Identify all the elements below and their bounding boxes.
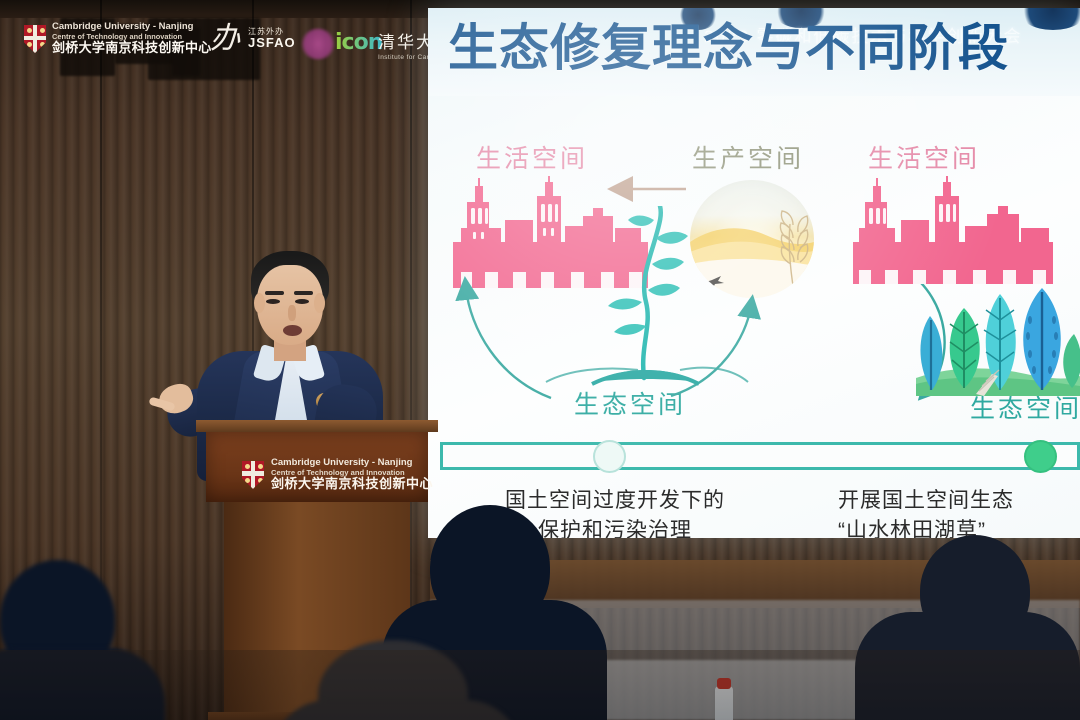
- logo-jsfao: 办 江苏外办 JSFAO: [210, 24, 296, 54]
- podium-cn-name: 剑桥大学南京科技创新中心: [271, 477, 433, 492]
- jsfao-calligraphy-icon: 办: [210, 24, 240, 54]
- caption-right-line2: “山水林田湖草”: [838, 516, 1080, 538]
- label-living-space-right: 生活空间: [868, 139, 980, 175]
- cambridge-shield-icon: [242, 461, 264, 489]
- room-floor-shadow: [0, 650, 1080, 720]
- city-skyline-right-icon: [853, 176, 1053, 284]
- arrow-eco-to-living-left: [466, 288, 551, 398]
- speaker-mouth: [283, 325, 302, 336]
- projection-screen: 2023 零碳和低碳技术与科学创新大会 生态修复理念与不同阶段 生活空间 生产空…: [428, 8, 1080, 538]
- jsfao-en-label: JSFAO: [248, 36, 296, 51]
- speaker-ear-left: [254, 293, 265, 313]
- timeline-track[interactable]: [440, 442, 1080, 470]
- speaker-brow-right: [294, 291, 313, 295]
- sponsor-logo-banner: Cambridge University - Nanjing Centre of…: [0, 16, 430, 72]
- label-living-space-left: 生活空间: [476, 139, 588, 175]
- icon-wordmark: icon: [335, 30, 382, 55]
- logo-icon-carbon: icon: [335, 30, 382, 55]
- speaker-eye-left: [266, 299, 280, 304]
- podium-top: [196, 420, 438, 432]
- cambridge-shield-icon: [24, 25, 46, 53]
- leaf-forest-icon: [916, 274, 1080, 396]
- timeline-marker-hollow[interactable]: [593, 440, 626, 473]
- caption-right-line1: 开展国土空间生态: [838, 486, 1080, 516]
- wheat-field-illustration: [690, 180, 814, 298]
- podium-logo: Cambridge University - Nanjing Centre of…: [242, 458, 433, 492]
- label-production-space: 生产空间: [692, 139, 804, 175]
- slide-title: 生态修复理念与不同阶段: [448, 22, 1068, 75]
- logo-cn-name: 剑桥大学南京科技创新中心: [52, 41, 212, 56]
- magenta-glow-blob: [300, 28, 336, 60]
- conference-photo: Cambridge University - Nanjing Centre of…: [0, 0, 1080, 720]
- caption-right: 开展国土空间生态 “山水林田湖草”: [838, 486, 1080, 538]
- speaker-eye-right: [295, 299, 309, 304]
- speaker-nose: [288, 305, 296, 321]
- speaker-brow-left: [265, 291, 284, 295]
- timeline-marker-filled[interactable]: [1024, 440, 1057, 473]
- label-eco-space-left: 生态空间: [574, 385, 686, 421]
- speaker-ear-right: [314, 293, 325, 313]
- sapling-icon: [590, 206, 700, 386]
- podium-front-panel: Cambridge University - Nanjing Centre of…: [206, 432, 428, 502]
- logo-cambridge-nanjing: Cambridge University - Nanjing Centre of…: [24, 22, 212, 56]
- wheat-field-photo-circle: [690, 180, 814, 298]
